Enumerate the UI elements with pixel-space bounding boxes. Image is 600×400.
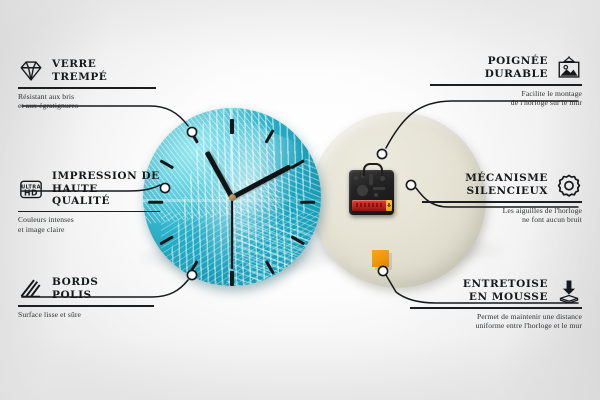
- diamond-icon: [18, 58, 44, 84]
- callout-header: MÉCANISME SILENCIEUX: [422, 172, 582, 198]
- marker-poignee: [377, 149, 386, 158]
- marker-bords-polis: [187, 270, 196, 279]
- callout-title: ENTRETOISE EN MOUSSE: [463, 278, 548, 303]
- callout-header: POIGNÉE DURABLE: [430, 55, 582, 81]
- callout-description: Les aiguilles de l'horloge ne font aucun…: [422, 206, 582, 225]
- callout-header: VERRE TREMPÉ: [18, 58, 156, 84]
- callout-impression-haute-qualite: ultra HD IMPRESSION DE HAUTE QUALITÉ Cou…: [18, 170, 160, 235]
- callout-entretoise-en-mousse: ENTRETOISE EN MOUSSE Permet de maintenir…: [410, 278, 582, 331]
- callout-rule: [18, 87, 156, 89]
- ultra-hd-icon-bottom-text: HD: [24, 188, 38, 197]
- callout-rule: [410, 307, 582, 309]
- callout-header: ENTRETOISE EN MOUSSE: [410, 278, 582, 304]
- callout-title: VERRE TREMPÉ: [52, 58, 107, 83]
- polished-edges-icon: [18, 276, 44, 302]
- callout-description: Résistant aux bris et aux égratignures: [18, 92, 156, 111]
- callout-description: Surface lisse et sûre: [18, 310, 154, 320]
- callout-title: BORDS POLIS: [52, 276, 98, 301]
- callout-header: BORDS POLIS: [18, 276, 154, 302]
- marker-mecanisme: [406, 180, 415, 189]
- callout-verre-trempe: VERRE TREMPÉ Résistant aux bris et aux é…: [18, 58, 156, 111]
- callout-rule: [422, 201, 582, 203]
- callout-description: Couleurs intenses et image claire: [18, 215, 160, 234]
- callout-mecanisme-silencieux: MÉCANISME SILENCIEUX Les aiguilles de l'…: [422, 172, 582, 225]
- connector-poignee: [386, 101, 578, 148]
- callout-rule: [18, 305, 154, 307]
- callout-bords-polis: BORDS POLIS Surface lisse et sûre: [18, 276, 154, 319]
- callout-header: ultra HD IMPRESSION DE HAUTE QUALITÉ: [18, 170, 160, 208]
- infographic-canvas: VERRE TREMPÉ Résistant aux bris et aux é…: [0, 0, 600, 400]
- ultra-hd-icon: ultra HD: [18, 176, 44, 202]
- callout-rule: [18, 211, 160, 213]
- gear-icon: [556, 172, 582, 198]
- callout-title: POIGNÉE DURABLE: [485, 55, 548, 80]
- marker-impression: [160, 183, 169, 192]
- callout-description: Permet de maintenir une distance uniform…: [410, 312, 582, 331]
- callout-title: IMPRESSION DE HAUTE QUALITÉ: [52, 170, 160, 208]
- callout-title: MÉCANISME SILENCIEUX: [465, 172, 548, 197]
- callout-rule: [430, 84, 582, 86]
- callout-poignee-durable: POIGNÉE DURABLE Facilite le montage de l…: [430, 55, 582, 108]
- callout-description: Facilite le montage de l'horloge sur le …: [430, 89, 582, 108]
- marker-entretoise: [378, 266, 387, 275]
- foam-spacer-icon: [556, 278, 582, 304]
- marker-verre-trempe: [187, 127, 196, 136]
- picture-hanger-icon: [556, 55, 582, 81]
